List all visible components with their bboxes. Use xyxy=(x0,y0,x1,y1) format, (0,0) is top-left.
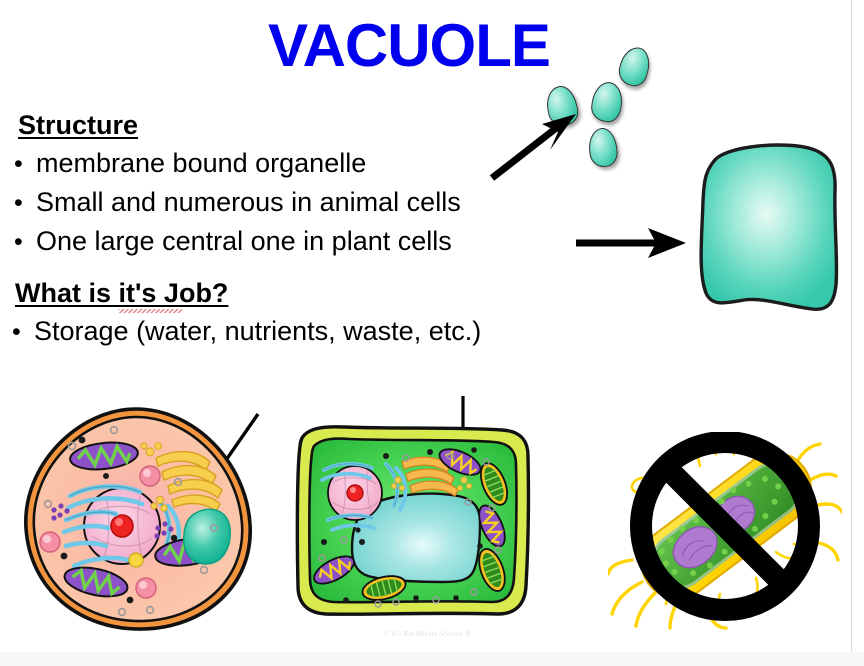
page-edge-divider xyxy=(851,0,852,666)
heading-structure: Structure xyxy=(18,110,138,141)
bullet-text: membrane bound organelle xyxy=(36,148,366,179)
page-title: VACUOLE xyxy=(268,16,550,76)
bacteria-prohibited-diagram xyxy=(608,432,842,630)
arrow-to-small-vacuoles-icon xyxy=(486,112,582,184)
arrow-to-large-vacuole-icon xyxy=(574,228,690,258)
slide-canvas: VACUOLE Structure • xyxy=(0,0,864,666)
animal-cell-vacuole xyxy=(184,509,231,564)
page-bottom-band xyxy=(0,652,864,666)
bullet-glyph: • xyxy=(14,191,36,216)
spellcheck-underline xyxy=(118,309,182,313)
copyright-notice: © It's Not Rocket Science ® xyxy=(384,630,471,638)
small-vacuole-blob-icon xyxy=(589,80,624,124)
heading-job: What is it's Job? xyxy=(15,278,228,309)
bullet-item: • One large central one in plant cells xyxy=(14,226,452,257)
bullet-item: • Storage (water, nutrients, waste, etc.… xyxy=(12,316,481,347)
bullet-glyph: • xyxy=(14,152,36,177)
bullet-text: Small and numerous in animal cells xyxy=(36,187,461,218)
animal-cell-diagram xyxy=(18,404,258,634)
large-central-vacuole-shape xyxy=(692,139,844,314)
bullet-glyph: • xyxy=(12,320,34,345)
plant-cell-diagram xyxy=(288,422,538,622)
small-vacuole-blob-icon xyxy=(587,127,619,169)
bullet-glyph: • xyxy=(14,230,36,255)
bullet-text: Storage (water, nutrients, waste, etc.) xyxy=(34,316,481,347)
bullet-text: One large central one in plant cells xyxy=(36,226,452,257)
bullet-item: • Small and numerous in animal cells xyxy=(14,187,461,218)
bullet-item: • membrane bound organelle xyxy=(14,148,366,179)
small-vacuole-blob-icon xyxy=(616,44,654,89)
